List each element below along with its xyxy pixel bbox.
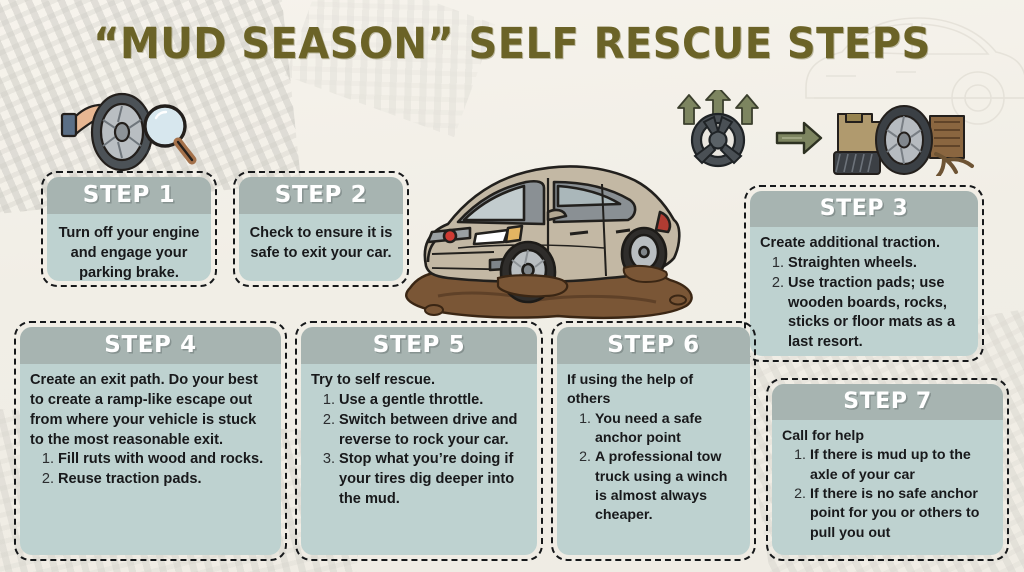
list-item: Straighten wheels.: [786, 254, 968, 274]
list-item: If there is no safe anchor point for you…: [808, 485, 993, 543]
list-item: You need a safe anchor point: [593, 410, 740, 449]
step-card-6: STEP 6 If using the help of others You n…: [551, 321, 756, 561]
step-body-1: Turn off your engine and engage your par…: [47, 214, 211, 281]
step-header-4: STEP 4: [20, 327, 281, 364]
car-stuck-in-mud-illustration: [398, 150, 708, 328]
list-item: Stop what you’re doing if your tires dig…: [337, 450, 527, 510]
step-card-3: STEP 3 Create additional traction. Strai…: [744, 185, 984, 362]
step-intro-1: Turn off your engine and engage your par…: [57, 224, 201, 281]
step-list-6: You need a safe anchor point A professio…: [567, 410, 740, 526]
step-body-3: Create additional traction. Straighten w…: [750, 227, 978, 356]
step-intro-5: Try to self rescue.: [311, 371, 527, 391]
infographic-poster: “MUD SEASON” SELF RESCUE STEPS: [0, 0, 1024, 572]
step-card-4: STEP 4 Create an exit path. Do your best…: [14, 321, 287, 561]
step-intro-6: If using the help of others: [567, 371, 740, 410]
step-intro-4: Create an exit path. Do your best to cre…: [30, 371, 271, 450]
step-intro-7: Call for help: [782, 427, 993, 446]
step-header-1: STEP 1: [47, 177, 211, 214]
step-header-2: STEP 2: [239, 177, 403, 214]
list-item: A professional tow truck using a winch i…: [593, 448, 740, 525]
list-item: If there is mud up to the axle of your c…: [808, 446, 993, 485]
step-body-7: Call for help If there is mud up to the …: [772, 420, 1003, 555]
list-item: Use a gentle throttle.: [337, 391, 527, 411]
step-header-6: STEP 6: [557, 327, 750, 364]
step-body-2: Check to ensure it is safe to exit your …: [239, 214, 403, 281]
step-card-7: STEP 7 Call for help If there is mud up …: [766, 378, 1009, 561]
step-header-3: STEP 3: [750, 191, 978, 227]
traction-aids-icon: [832, 96, 980, 176]
step-body-4: Create an exit path. Do your best to cre…: [20, 364, 281, 555]
step-body-6: If using the help of others You need a s…: [557, 364, 750, 555]
right-arrow-icon: [775, 120, 823, 156]
step-header-5: STEP 5: [301, 327, 537, 364]
list-item: Switch between drive and reverse to rock…: [337, 411, 527, 451]
page-title: “MUD SEASON” SELF RESCUE STEPS: [36, 19, 988, 69]
step-header-7: STEP 7: [772, 384, 1003, 420]
step-card-5: STEP 5 Try to self rescue. Use a gentle …: [295, 321, 543, 561]
step-card-2: STEP 2 Check to ensure it is safe to exi…: [233, 171, 409, 287]
step-intro-3: Create additional traction.: [760, 234, 968, 254]
list-item: Use traction pads; use wooden boards, ro…: [786, 274, 968, 353]
list-item: Reuse traction pads.: [56, 470, 271, 490]
step-list-5: Use a gentle throttle. Switch between dr…: [311, 391, 527, 510]
step-intro-2: Check to ensure it is safe to exit your …: [249, 224, 393, 264]
step-list-7: If there is mud up to the axle of your c…: [782, 446, 993, 543]
step-list-4: Fill ruts with wood and rocks. Reuse tra…: [30, 450, 271, 490]
step-list-3: Straighten wheels. Use traction pads; us…: [760, 254, 968, 353]
step-body-5: Try to self rescue. Use a gentle throttl…: [301, 364, 537, 555]
hand-inspecting-tire-with-magnifier-icon: [58, 88, 198, 174]
list-item: Fill ruts with wood and rocks.: [56, 450, 271, 470]
step-card-1: STEP 1 Turn off your engine and engage y…: [41, 171, 217, 287]
